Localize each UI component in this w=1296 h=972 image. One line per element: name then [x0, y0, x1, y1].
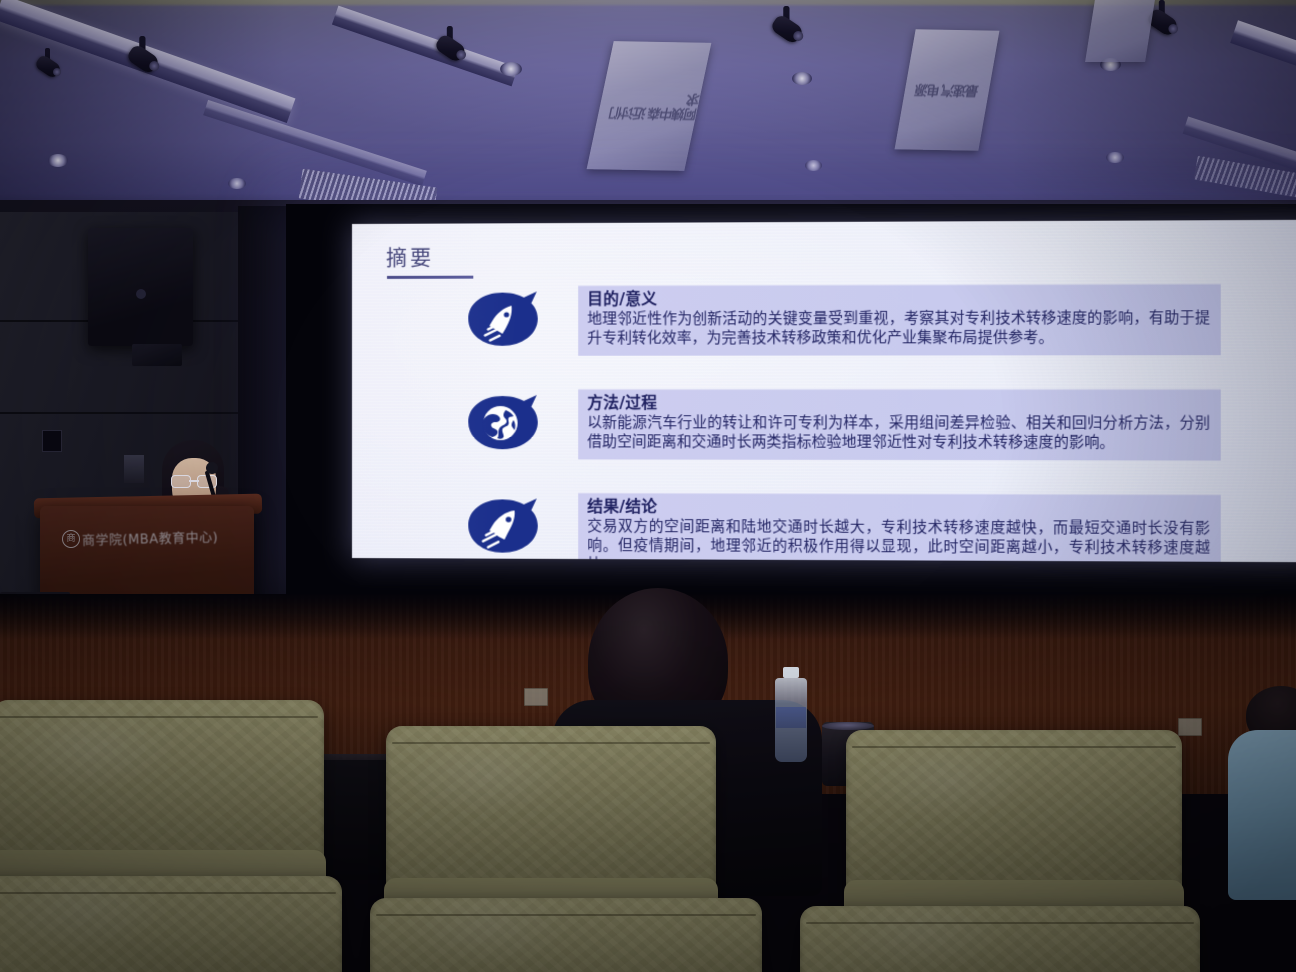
- presentation-slide: 摘要: [352, 220, 1296, 562]
- audience-member-right: [1228, 694, 1296, 894]
- audience-chair: [0, 700, 324, 896]
- slide-section: 目的/意义 地理邻近性作为创新活动的关键变量受到重视，考察其对专利技术转移速度的…: [352, 283, 1296, 382]
- slide-sections: 目的/意义 地理邻近性作为创新活动的关键变量受到重视，考察其对专利技术转移速度的…: [352, 283, 1296, 562]
- audience-chair: [370, 898, 762, 972]
- recessed-downlight: [805, 160, 822, 171]
- audience-chair: [386, 726, 716, 924]
- wall-outlet: [524, 688, 548, 706]
- ceiling-mirror-panel: [1085, 0, 1155, 62]
- slide-section: 结果/结论 交易双方的空间距离和陆地交通时长越大，专利技术转移速度越快，而最短交…: [352, 492, 1296, 562]
- slide-section: 方法/过程 以新能源汽车行业的转让和许可专利为样本，采用组间差异检验、相关和回归…: [352, 389, 1296, 487]
- wall-mounted-speaker: [88, 228, 193, 346]
- wall-seam: [0, 412, 262, 414]
- slide-text-box: 目的/意义 地理邻近性作为创新活动的关键变量受到重视，考察其对专利技术转移速度的…: [578, 284, 1221, 356]
- rocket-icon: [466, 292, 541, 366]
- section-heading: 结果/结论: [587, 498, 1210, 520]
- section-heading: 方法/过程: [587, 394, 1210, 414]
- speaker-bracket: [132, 344, 182, 366]
- wall-access-plate: [42, 430, 62, 452]
- audience-chair: [0, 876, 342, 972]
- microphone-icon: [206, 462, 218, 474]
- recessed-downlight: [792, 72, 812, 85]
- slide-text-box: 方法/过程 以新能源汽车行业的转让和许可专利为样本，采用组间差异检验、相关和回归…: [578, 389, 1221, 461]
- slide-title: 摘要: [386, 242, 434, 272]
- section-heading: 目的/意义: [587, 289, 1210, 310]
- section-body: 交易双方的空间距离和陆地交通时长越大，专利技术转移速度越快，而最短交通时长没有影…: [587, 518, 1210, 562]
- rocket-icon: [466, 498, 541, 562]
- wall-outlet: [1178, 718, 1202, 736]
- audience-torso: [1228, 730, 1296, 900]
- ceiling: 阿姨中森 近讨们 求 最速汽 电源: [0, 0, 1296, 215]
- audience-chair: [846, 730, 1182, 926]
- slide-title-underline: [387, 276, 473, 279]
- recessed-downlight: [228, 178, 246, 189]
- section-body: 以新能源汽车行业的转让和许可专利为样本，采用组间差异检验、相关和回归分析方法，分…: [587, 415, 1210, 454]
- slide-text-box: 结果/结论 交易双方的空间距离和陆地交通时长越大，专利技术转移速度越快，而最短交…: [578, 493, 1221, 563]
- section-body: 地理邻近性作为创新活动的关键变量受到重视，考察其对专利技术转移速度的影响，有助于…: [587, 310, 1210, 349]
- recessed-downlight: [48, 154, 68, 167]
- water-bottle: [775, 678, 807, 762]
- conference-room-photo: 阿姨中森 近讨们 求 最速汽 电源 摘要: [0, 0, 1296, 972]
- audience-chair: [800, 906, 1200, 972]
- recessed-downlight: [1106, 152, 1124, 163]
- globe-icon: [466, 395, 541, 469]
- recessed-downlight: [500, 62, 522, 76]
